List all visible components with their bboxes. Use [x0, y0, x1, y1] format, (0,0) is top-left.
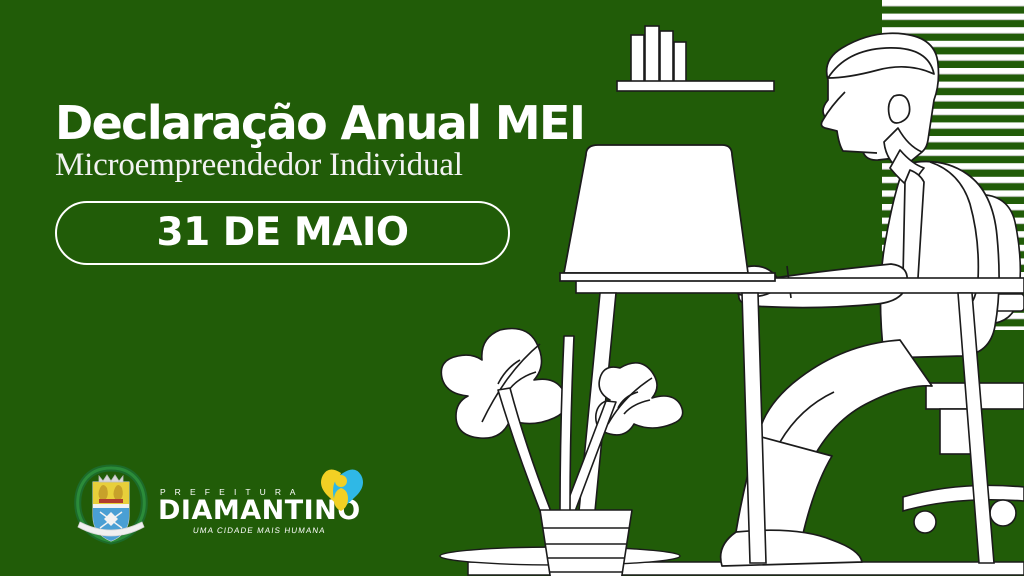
deadline-badge: 31 DE MAIO [55, 201, 510, 265]
deadline-label: 31 DE MAIO [156, 210, 408, 255]
city-tagline: UMA CIDADE MAIS HUMANA [157, 526, 361, 535]
page-subtitle: Microempreendedor Individual [55, 148, 535, 183]
page-title: Declaração Anual MEI [55, 100, 535, 146]
headline-block: Declaração Anual MEI Microempreendedor I… [55, 100, 535, 265]
prefeitura-wordmark: P R E F E I T U R A DIAMANTINO UMA CIDAD… [158, 473, 361, 535]
poster-canvas: Declaração Anual MEI Microempreendedor I… [0, 0, 1024, 576]
city-logo: P R E F E I T U R A DIAMANTINO UMA CIDAD… [72, 462, 361, 546]
coat-of-arms-icon [72, 462, 150, 546]
heart-person-mark-icon [319, 467, 365, 513]
